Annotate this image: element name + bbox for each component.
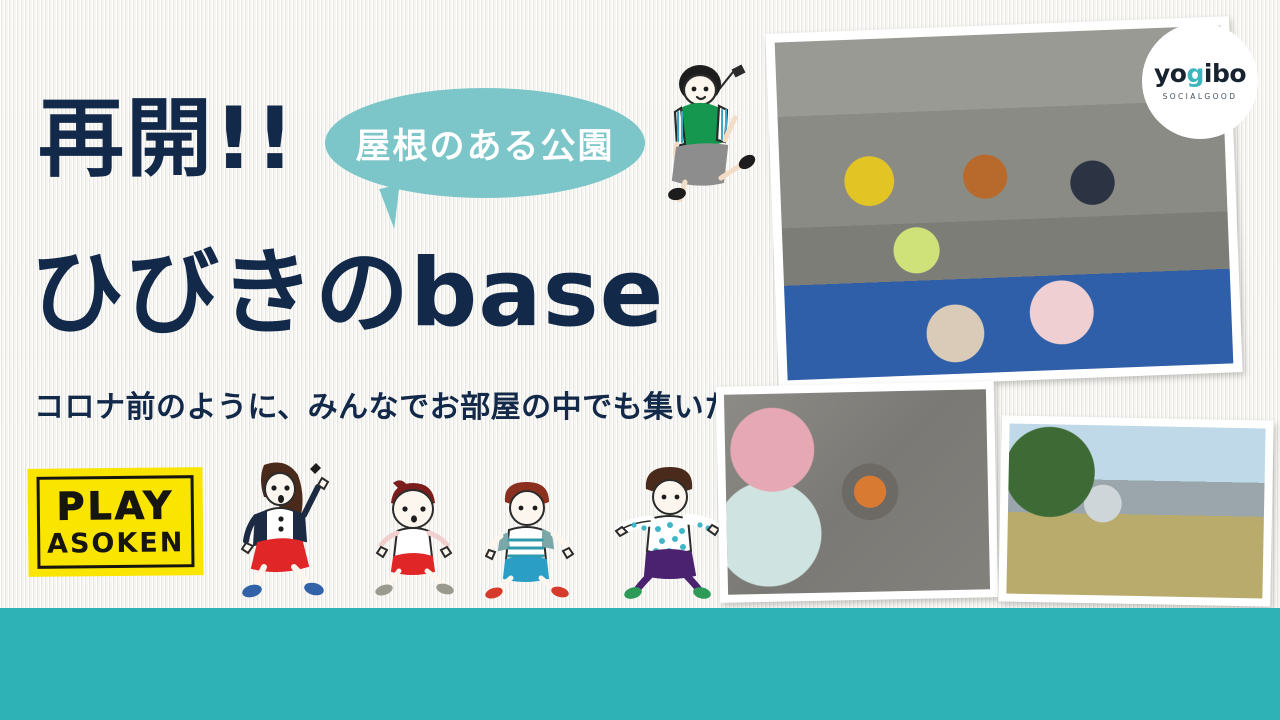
page-subtitle: コロナ前のように、みんなでお部屋の中でも集いたい。 — [34, 382, 796, 426]
photo-marshmallow-roasting — [716, 381, 998, 603]
yogibo-wordmark: yogibo — [1154, 61, 1246, 86]
running-girl-illustration — [238, 455, 338, 600]
speech-bubble: 屋根のある公園 — [325, 88, 645, 198]
yogibo-wordmark-pre: yo — [1154, 59, 1186, 88]
yogibo-wordmark-post: ibo — [1204, 59, 1246, 88]
photo-camp-field-image — [1006, 424, 1265, 599]
photo-marshmallow-roasting-image — [724, 389, 990, 594]
running-toddler-illustration — [375, 477, 455, 599]
jumping-boy-illustration — [655, 52, 765, 202]
photo-camp-field — [998, 415, 1274, 606]
play-asoken-line2: ASOKEN — [47, 529, 185, 557]
poster-canvas: 再開!! 屋根のある公園 — [0, 0, 1280, 720]
speech-bubble-tail — [379, 184, 410, 230]
running-child-polkadot-illustration — [612, 465, 720, 600]
play-asoken-line1: PLAY — [56, 486, 174, 525]
yogibo-tagline: SOCIALGOOD — [1163, 92, 1238, 101]
yogibo-logo: yogibo SOCIALGOOD — [1142, 23, 1258, 139]
page-headline: 再開!! — [38, 96, 296, 182]
speech-bubble-label: 屋根のある公園 — [355, 118, 614, 169]
page-title: ひびきのbase — [30, 247, 664, 341]
yogibo-wordmark-accent: g — [1186, 59, 1203, 88]
running-boy-striped-illustration — [485, 478, 581, 600]
play-asoken-logo: PLAY ASOKEN — [27, 467, 203, 577]
campaign-footer-bar: 目標金額 200万円 募集期間 24.12.1〜25.1.10 — [0, 608, 1280, 720]
